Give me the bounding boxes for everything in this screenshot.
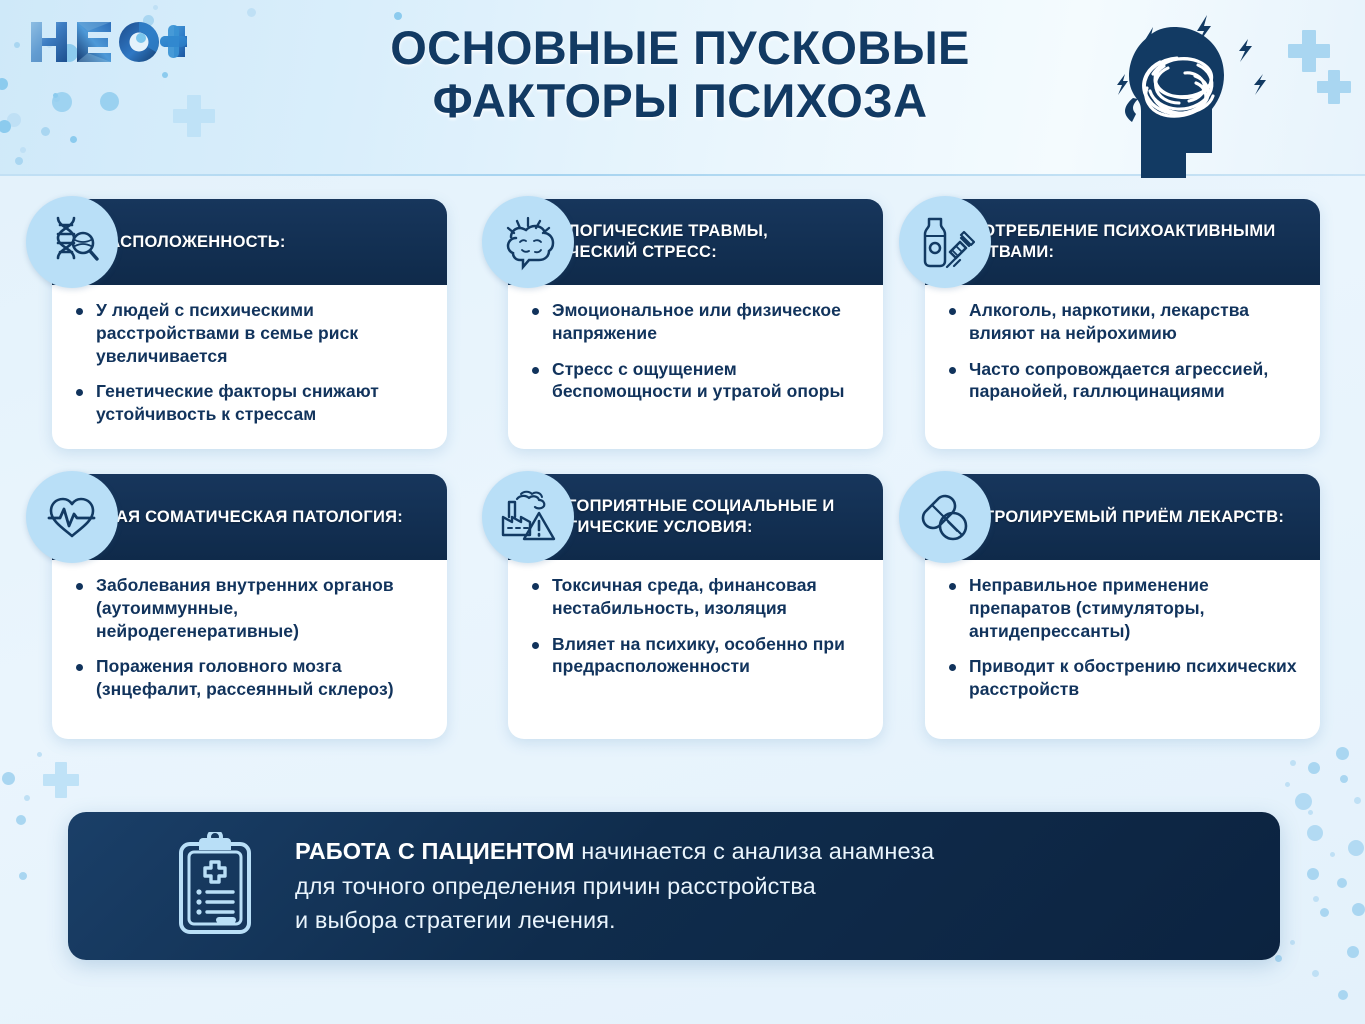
card-header: ПСИХОЛОГИЧЕСКИЕ ТРАВМЫ, ХРОНИЧЕСКИЙ СТРЕ… xyxy=(508,199,883,285)
bullet-list: Неправильное применение препаратов (стим… xyxy=(943,574,1302,701)
bottle-syringe-icon xyxy=(899,196,991,288)
callout-banner: РАБОТА С ПАЦИЕНТОМ начинается с анализа … xyxy=(68,812,1280,960)
banner-line-2: для точного определения причин расстройс… xyxy=(295,869,934,904)
page-title: ОСНОВНЫЕ ПУСКОВЫЕ ФАКТОРЫ ПСИХОЗА xyxy=(330,22,1030,127)
banner-lead: РАБОТА С ПАЦИЕНТОМ xyxy=(295,838,575,864)
list-item: Неправильное применение препаратов (стим… xyxy=(943,574,1302,642)
list-item: Влияет на психику, особенно при предрасп… xyxy=(526,633,865,679)
factor-card: ЗЛОУПОТРЕБЛЕНИЕ ПСИХОАКТИВНЫМИ ВЕЩЕСТВАМ… xyxy=(925,199,1320,449)
list-item: У людей с психическими расстройствами в … xyxy=(70,299,429,367)
factor-card: НЕБЛАГОПРИЯТНЫЕ СОЦИАЛЬНЫЕ И ЭКОЛОГИЧЕСК… xyxy=(508,474,883,739)
card-header: ФОНОВАЯ СОМАТИЧЕСКАЯ ПАТОЛОГИЯ: xyxy=(52,474,447,560)
bullet-list: Токсичная среда, финансовая нестабильнос… xyxy=(526,574,865,678)
factor-card: ФОНОВАЯ СОМАТИЧЕСКАЯ ПАТОЛОГИЯ: Заболева… xyxy=(52,474,447,739)
list-item: Приводит к обострению психических расстр… xyxy=(943,655,1302,701)
banner-line-1: РАБОТА С ПАЦИЕНТОМ начинается с анализа … xyxy=(295,834,934,869)
card-header: ЗЛОУПОТРЕБЛЕНИЕ ПСИХОАКТИВНЫМИ ВЕЩЕСТВАМ… xyxy=(925,199,1320,285)
title-line-1: ОСНОВНЫЕ ПУСКОВЫЕ xyxy=(330,22,1030,75)
list-item: Генетические факторы снижают устойчивост… xyxy=(70,380,429,426)
list-item: Заболевания внутренних органов (аутоимму… xyxy=(70,574,429,642)
factor-card: НЕКОНТРОЛИРУЕМЫЙ ПРИЁМ ЛЕКАРСТВ: Неправи… xyxy=(925,474,1320,739)
factor-card: ПРЕДРАСПОЛОЖЕННОСТЬ: У людей с психическ… xyxy=(52,199,447,449)
infographic-stage: ОСНОВНЫЕ ПУСКОВЫЕ ФАКТОРЫ ПСИХОЗА xyxy=(0,0,1365,1024)
bullet-list: У людей с психическими расстройствами в … xyxy=(70,299,429,426)
card-body: Эмоциональное или физическое напряжение … xyxy=(508,285,883,419)
card-header: НЕБЛАГОПРИЯТНЫЕ СОЦИАЛЬНЫЕ И ЭКОЛОГИЧЕСК… xyxy=(508,474,883,560)
factory-warning-icon xyxy=(482,471,574,563)
brand-logo[interactable] xyxy=(27,18,187,70)
card-body: Токсичная среда, финансовая нестабильнос… xyxy=(508,560,883,694)
list-item: Часто сопровождается агрессией, паранойе… xyxy=(943,358,1302,404)
dna-magnifier-icon xyxy=(26,196,118,288)
banner-line-3: и выбора стратегии лечения. xyxy=(295,903,934,938)
card-body: У людей с психическими расстройствами в … xyxy=(52,285,447,442)
list-item: Эмоциональное или физическое напряжение xyxy=(526,299,865,345)
clipboard-medical-icon xyxy=(173,832,257,941)
pills-icon xyxy=(899,471,991,563)
heart-pulse-icon xyxy=(26,471,118,563)
factor-card: ПСИХОЛОГИЧЕСКИЕ ТРАВМЫ, ХРОНИЧЕСКИЙ СТРЕ… xyxy=(508,199,883,449)
title-line-2: ФАКТОРЫ ПСИХОЗА xyxy=(330,75,1030,128)
stressed-brain-icon xyxy=(482,196,574,288)
card-body: Неправильное применение препаратов (стим… xyxy=(925,560,1320,717)
card-body: Заболевания внутренних органов (аутоимму… xyxy=(52,560,447,717)
bullet-list: Эмоциональное или физическое напряжение … xyxy=(526,299,865,403)
banner-text: РАБОТА С ПАЦИЕНТОМ начинается с анализа … xyxy=(295,834,934,938)
list-item: Поражения головного мозга (знцефалит, ра… xyxy=(70,655,429,701)
bullet-list: Заболевания внутренних органов (аутоимму… xyxy=(70,574,429,701)
banner-rest: начинается с анализа анамнеза xyxy=(575,838,935,864)
card-header: ПРЕДРАСПОЛОЖЕННОСТЬ: xyxy=(52,199,447,285)
list-item: Токсичная среда, финансовая нестабильнос… xyxy=(526,574,865,620)
head-with-tangled-brain-icon xyxy=(1085,2,1300,178)
list-item: Стресс с ощущением беспомощности и утрат… xyxy=(526,358,865,404)
card-header: НЕКОНТРОЛИРУЕМЫЙ ПРИЁМ ЛЕКАРСТВ: xyxy=(925,474,1320,560)
card-body: Алкоголь, наркотики, лекарства влияют на… xyxy=(925,285,1320,419)
bullet-list: Алкоголь, наркотики, лекарства влияют на… xyxy=(943,299,1302,403)
list-item: Алкоголь, наркотики, лекарства влияют на… xyxy=(943,299,1302,345)
